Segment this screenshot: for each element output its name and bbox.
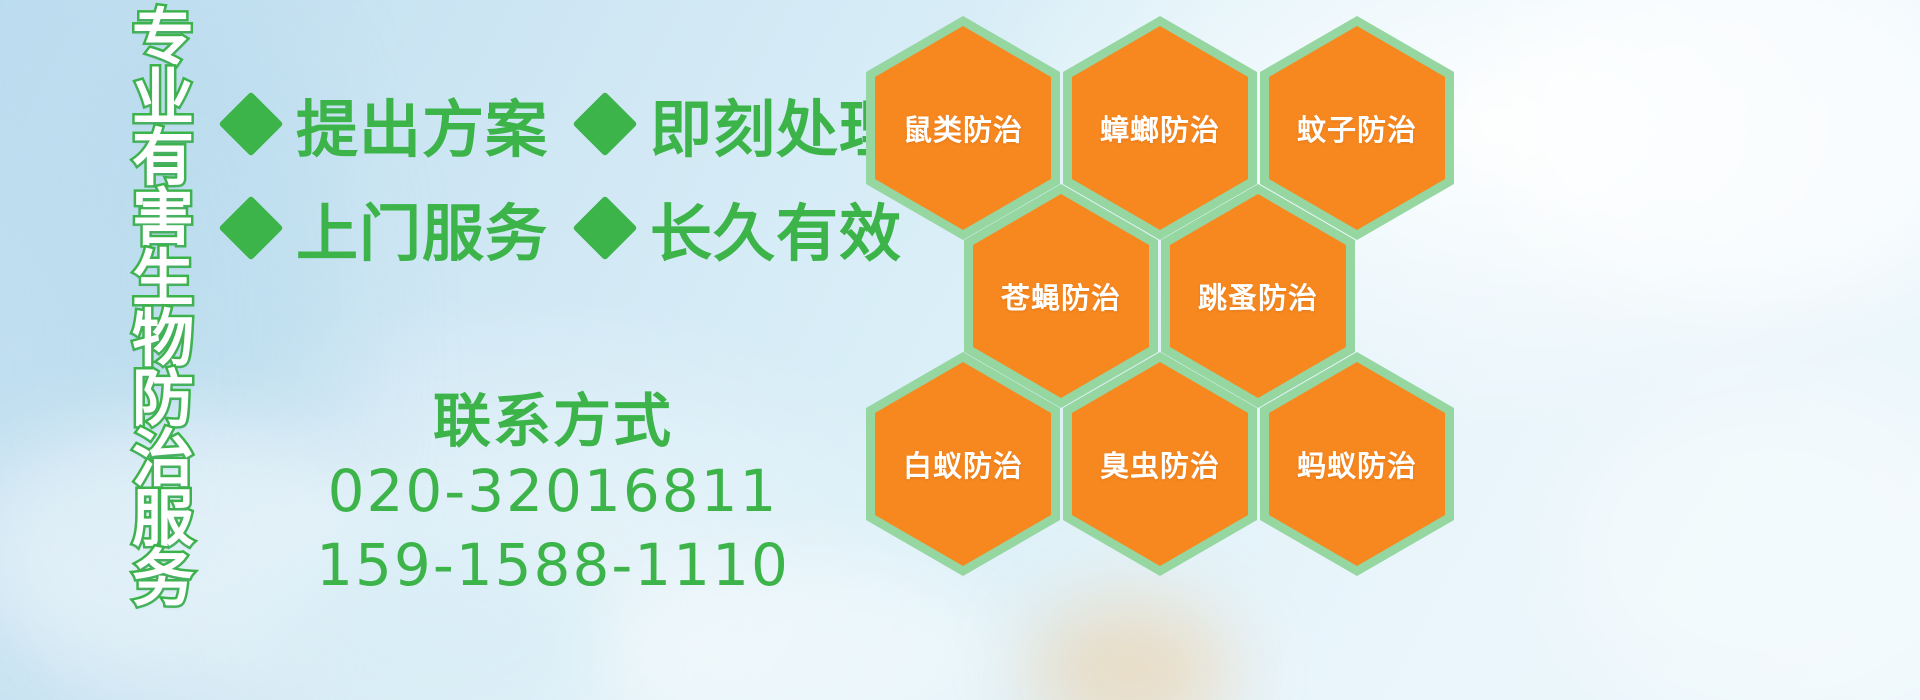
feature-item-propose-plan: 提出方案 (228, 79, 548, 169)
vertical-slogan-char: 治 (132, 429, 194, 489)
diamond-icon (572, 91, 637, 156)
promo-banner: 专 业 有 害 生 物 防 治 服 务 提出方案 即刻处理 上门服务 (0, 0, 1920, 700)
feature-item-long-lasting: 长久有效 (582, 183, 902, 273)
vertical-slogan-char: 有 (132, 128, 194, 188)
hex-label: 蚊子防治 (1297, 107, 1417, 149)
feature-label: 上门服务 (296, 183, 548, 273)
feature-item-onsite-service: 上门服务 (228, 183, 548, 273)
contact-block: 联系方式 020-32016811 159-1588-1110 (228, 390, 878, 602)
diamond-icon (218, 195, 283, 260)
vertical-slogan-char: 专 (132, 8, 194, 68)
hex-label: 臭虫防治 (1100, 443, 1220, 485)
hex-label: 蟑螂防治 (1100, 107, 1220, 149)
hex-label: 白蚁防治 (903, 443, 1023, 485)
background-blob (1030, 600, 1230, 700)
diamond-icon (572, 195, 637, 260)
feature-list: 提出方案 即刻处理 上门服务 长久有效 (228, 72, 878, 280)
vertical-slogan-char: 服 (132, 489, 194, 549)
hex-label: 跳蚤防治 (1198, 275, 1318, 317)
feature-row: 提出方案 即刻处理 (228, 72, 878, 176)
vertical-slogan: 专 业 有 害 生 物 防 治 服 务 (104, 8, 222, 609)
feature-item-immediate-treatment: 即刻处理 (582, 79, 902, 169)
feature-label: 提出方案 (296, 79, 548, 169)
vertical-slogan-char: 害 (132, 188, 194, 248)
background-blob (1480, 0, 1920, 300)
hex-label: 蚂蚁防治 (1297, 443, 1417, 485)
contact-phone-landline[interactable]: 020-32016811 (228, 454, 878, 528)
hex-label: 苍蝇防治 (1001, 275, 1121, 317)
service-honeycomb: 鼠类防治 蟑螂防治 蚊子防治 苍蝇防治 跳蚤防治 白蚁防治 臭虫防治 蚂蚁 (866, 6, 1466, 566)
vertical-slogan-char: 业 (132, 68, 194, 128)
feature-row: 上门服务 长久有效 (228, 176, 878, 280)
contact-title: 联系方式 (228, 390, 878, 454)
hex-label: 鼠类防治 (903, 107, 1023, 149)
vertical-slogan-char: 务 (132, 549, 194, 609)
contact-phone-mobile[interactable]: 159-1588-1110 (228, 528, 878, 602)
background-blob (1560, 380, 1920, 700)
feature-label: 长久有效 (650, 183, 902, 273)
vertical-slogan-char: 防 (132, 369, 194, 429)
diamond-icon (218, 91, 283, 156)
vertical-slogan-char: 物 (132, 309, 194, 369)
feature-label: 即刻处理 (650, 79, 902, 169)
vertical-slogan-char: 生 (132, 249, 194, 309)
